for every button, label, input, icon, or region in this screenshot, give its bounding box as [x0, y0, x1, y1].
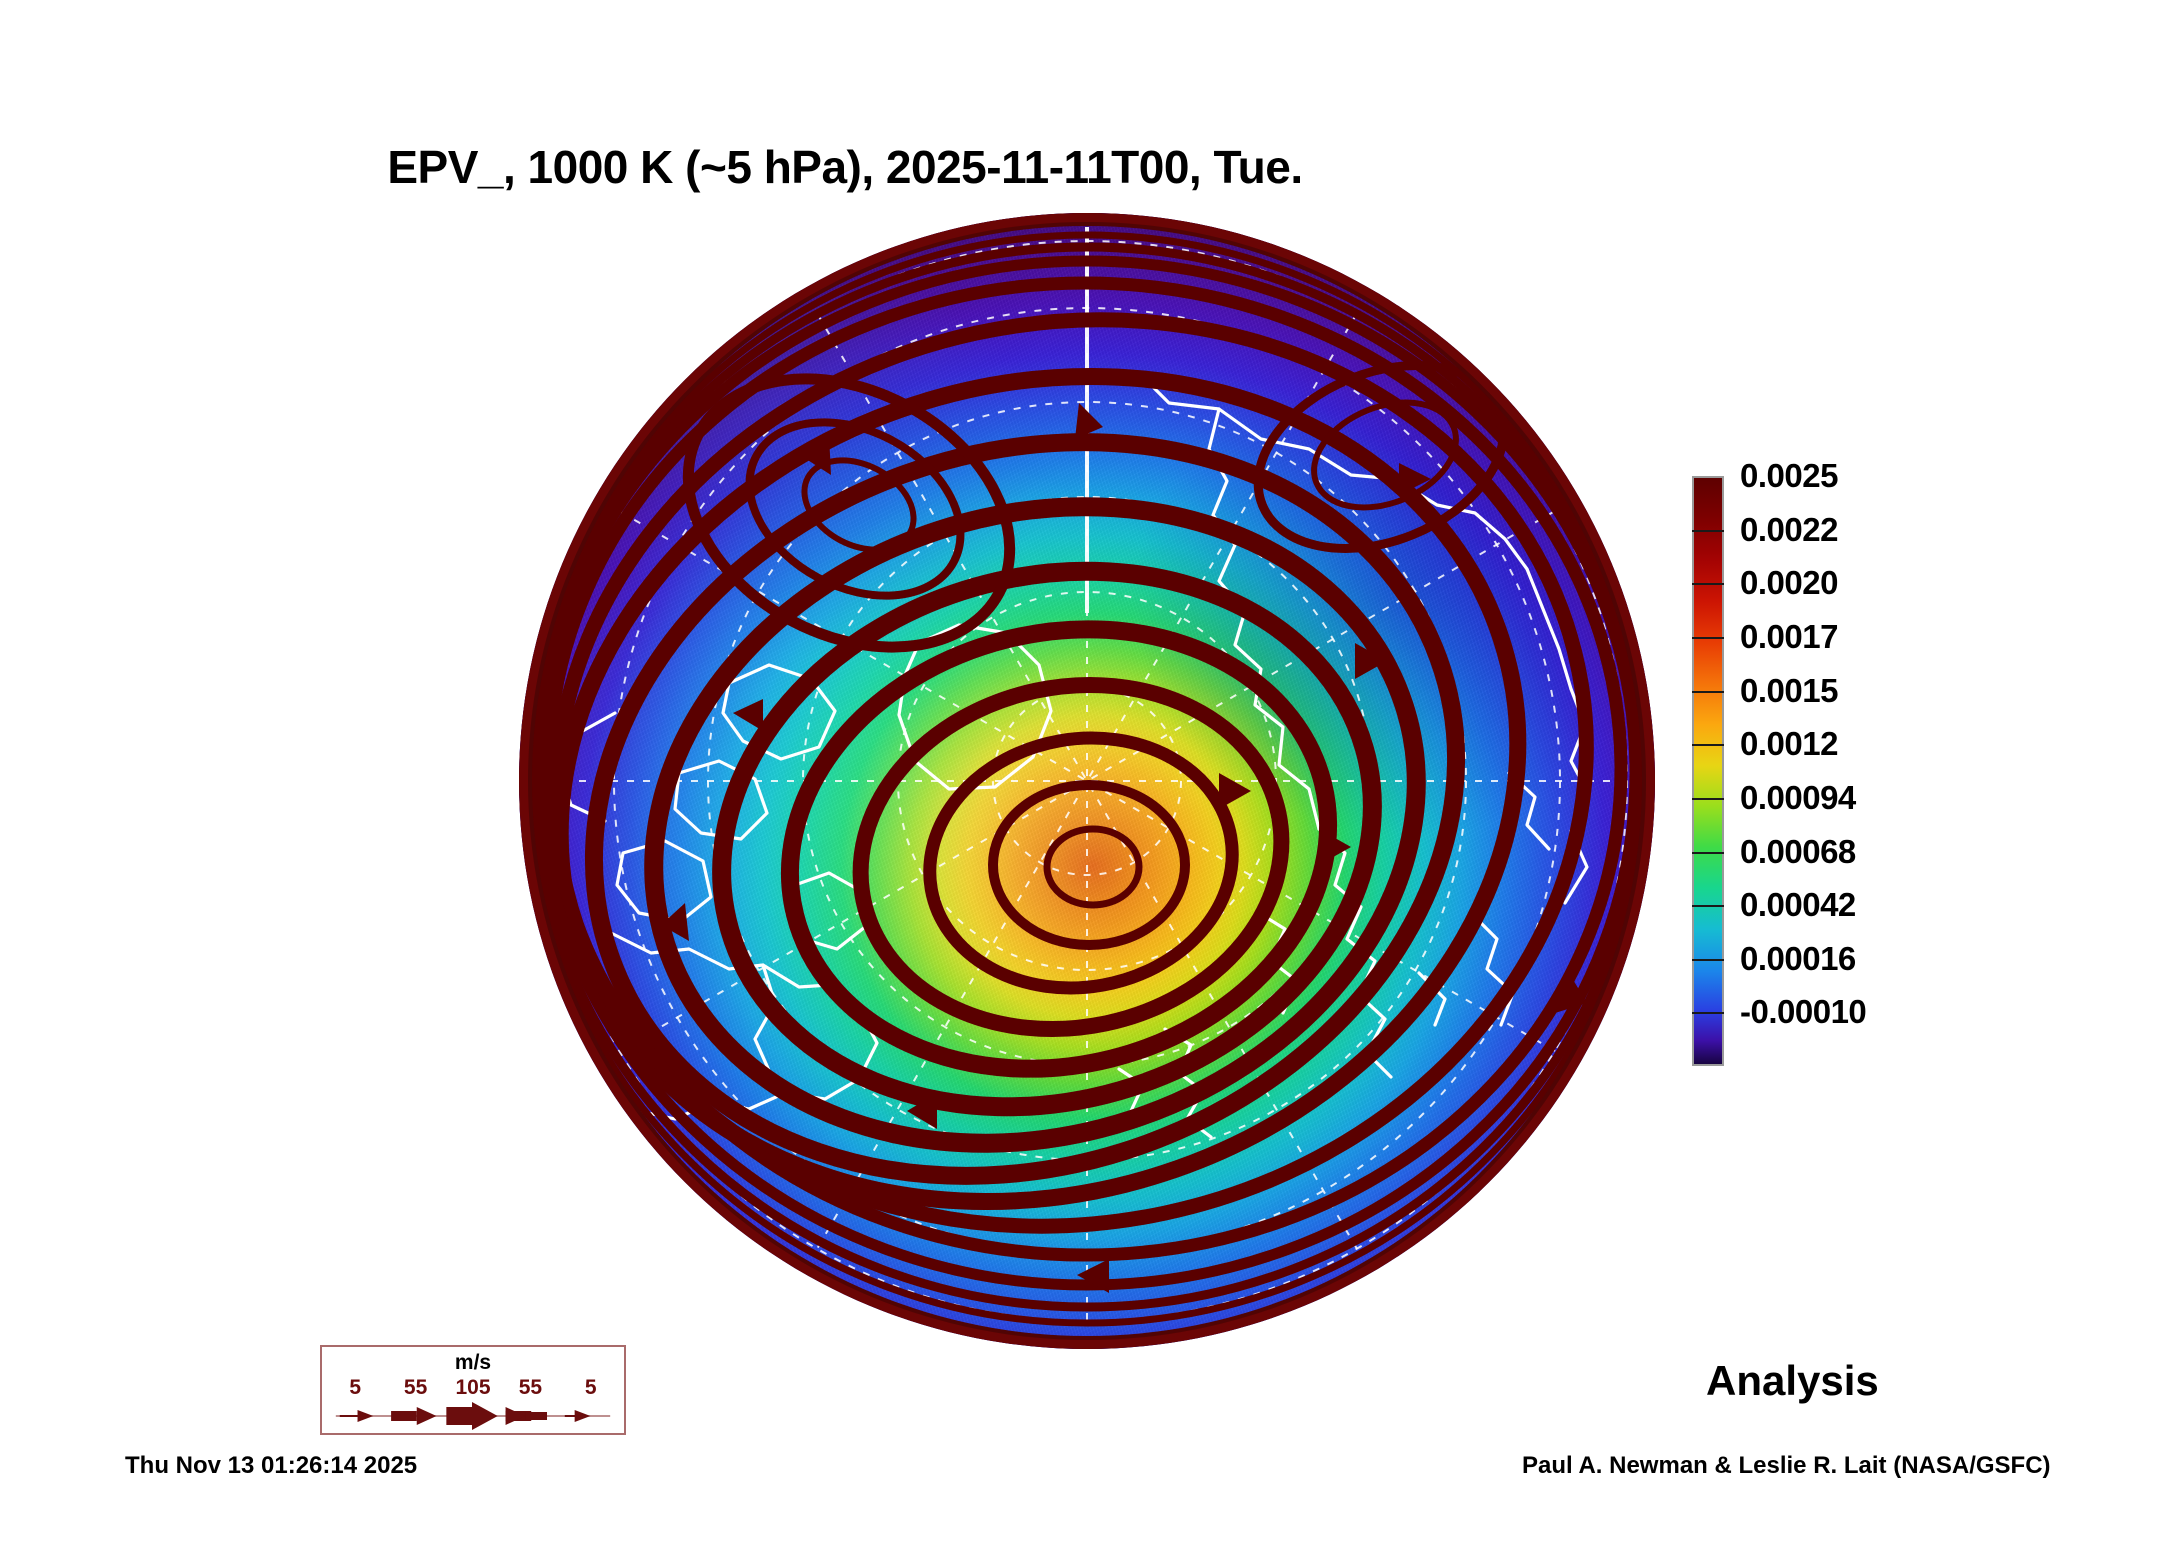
- colorbar-tick: [1692, 798, 1724, 800]
- colorbar-tick: [1692, 691, 1724, 693]
- colorbar-label: -0.00010: [1740, 993, 1866, 1031]
- page-title: EPV_, 1000 K (~5 hPa), 2025-11-11T00, Tu…: [0, 140, 1690, 194]
- colorbar-tick: [1692, 905, 1724, 907]
- colorbar-label: 0.0012: [1740, 725, 1838, 763]
- analysis-label: Analysis: [1706, 1357, 1879, 1405]
- colorbar-label: 0.0017: [1740, 618, 1838, 656]
- wind-tick-label: 5: [585, 1376, 597, 1400]
- colorbar-tick: [1692, 959, 1724, 961]
- wind-legend-arrows: [322, 1401, 624, 1431]
- wind-tick-label: 55: [404, 1376, 427, 1400]
- colorbar-tick: [1692, 583, 1724, 585]
- wind-legend-unit-label: m/s: [322, 1351, 624, 1375]
- colorbar-label: 0.00068: [1740, 833, 1856, 871]
- colorbar-tick: [1692, 1012, 1724, 1014]
- colorbar-label: 0.00094: [1740, 779, 1856, 817]
- wind-tick-label: 55: [519, 1376, 542, 1400]
- colorbar-label: 0.00016: [1740, 940, 1856, 978]
- author-credit: Paul A. Newman & Leslie R. Lait (NASA/GS…: [1522, 1452, 2051, 1480]
- map-rim-ring: [519, 213, 1655, 1349]
- generation-timestamp: Thu Nov 13 01:26:14 2025: [125, 1452, 417, 1480]
- polar-map-area: [519, 213, 1655, 1349]
- wind-speed-legend: m/s 5 55 105 55 5: [320, 1345, 626, 1435]
- wind-tick-label: 105: [455, 1376, 490, 1400]
- colorbar-gradient: [1692, 476, 1724, 1066]
- colorbar-tick: [1692, 530, 1724, 532]
- colorbar-tick: [1692, 744, 1724, 746]
- colorbar-tick: [1692, 852, 1724, 854]
- polar-map-disk: [519, 213, 1655, 1349]
- colorbar-label: 0.0020: [1740, 564, 1838, 602]
- wind-legend-ticks: 5 55 105 55 5: [322, 1376, 624, 1400]
- wind-tick-label: 5: [349, 1376, 361, 1400]
- colorbar-label: 0.0025: [1740, 457, 1838, 495]
- colorbar-tick: [1692, 637, 1724, 639]
- colorbar-label: 0.0015: [1740, 672, 1838, 710]
- colorbar-label: 0.0022: [1740, 511, 1838, 549]
- epv-colorbar: 0.0025 0.0022 0.0020 0.0017 0.0015 0.001…: [1692, 476, 2112, 1076]
- colorbar-label: 0.00042: [1740, 886, 1856, 924]
